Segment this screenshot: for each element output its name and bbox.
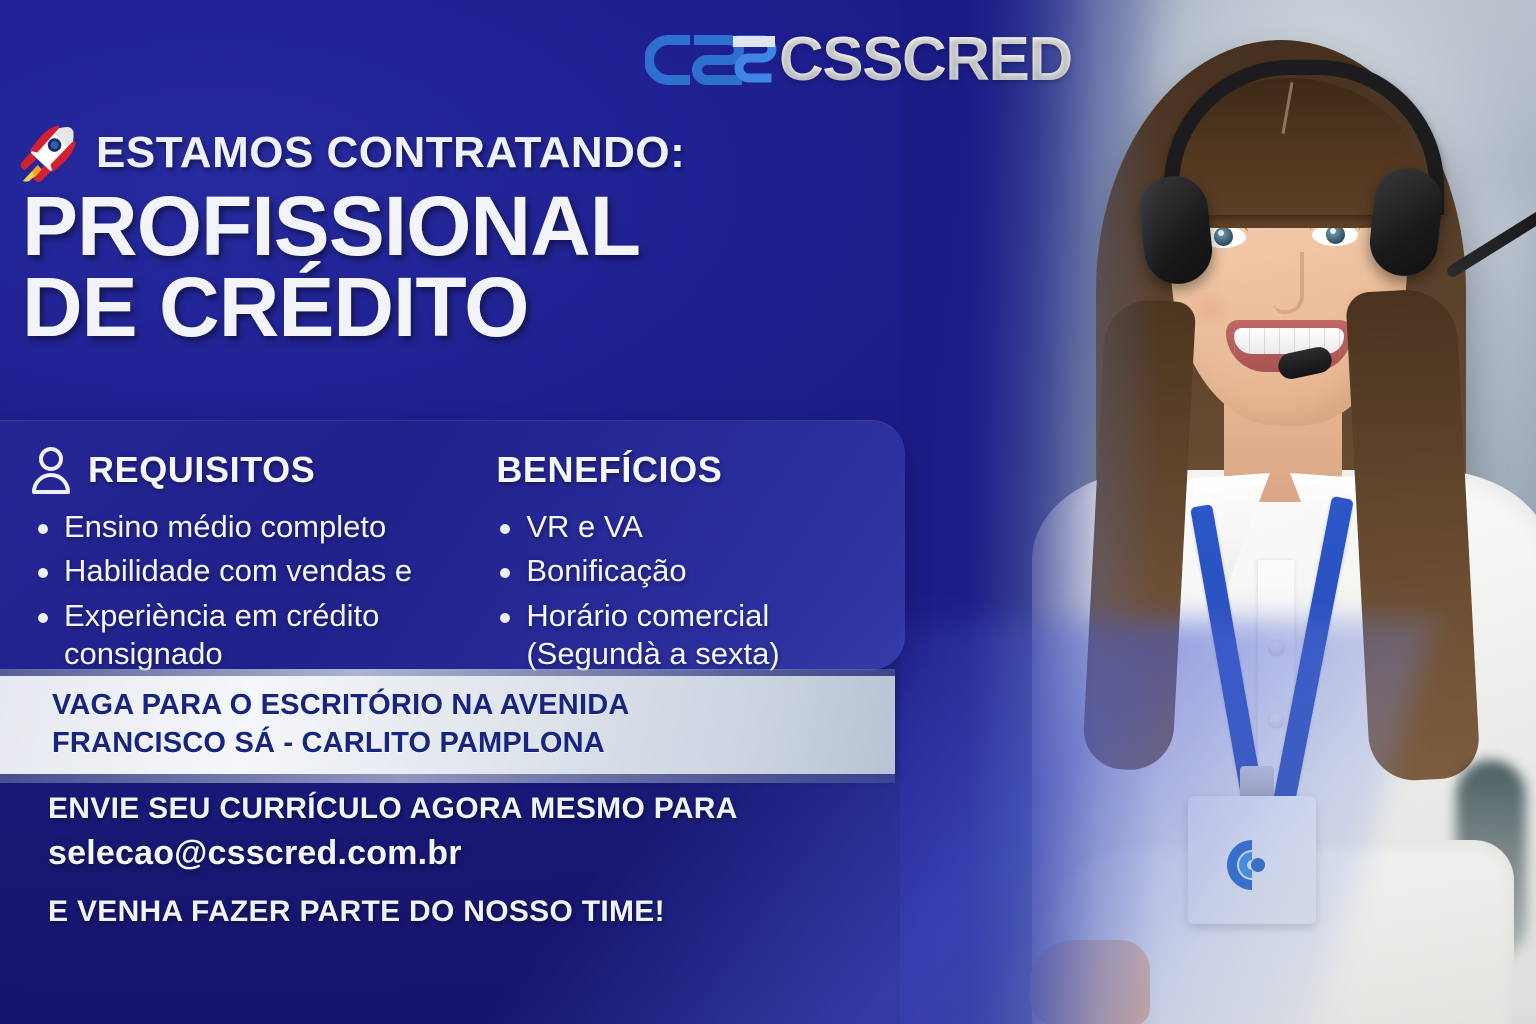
- title-line-1: PROFISSIONAL: [22, 179, 640, 273]
- page-title: PROFISSIONAL DE CRÉDITO: [22, 186, 640, 347]
- list-item: VR e VA: [492, 508, 885, 546]
- requisitos-list: Ensino médio completo Habilidade com ven…: [30, 508, 442, 674]
- rocket-icon: [17, 121, 81, 185]
- csscred-monogram-icon: [645, 26, 777, 94]
- brand-wordmark: CSSCRED: [779, 29, 1078, 91]
- title-line-2: DE CRÉDITO: [22, 267, 640, 348]
- address-banner: VAGA PARA O ESCRITÓRIO NA AVENIDA FRANCI…: [0, 676, 895, 774]
- list-item: Habilidade com vendas e: [30, 552, 442, 590]
- address-text: VAGA PARA O ESCRITÓRIO NA AVENIDA FRANCI…: [52, 686, 630, 763]
- beneficios-list: VR e VA Bonificação Horário comercial (S…: [492, 508, 885, 674]
- address-line-2: FRANCISCO SÁ - CARLITO PAMPLONA: [52, 724, 630, 762]
- requisitos-title: REQUISITOS: [88, 449, 315, 491]
- cta-line-1: ENVIE SEU CURRÍCULO AGORA MESMO PARA: [48, 792, 738, 826]
- beneficios-title: BENEFÍCIOS: [496, 449, 722, 491]
- requirements-benefits-panel: REQUISITOS Ensino médio completo Habilid…: [0, 420, 905, 670]
- nose: [1274, 252, 1304, 314]
- hiring-kicker-row: ESTAMOS CONTRATANDO:: [18, 122, 685, 184]
- list-item: Horário comercial (Segundà a sexta): [492, 597, 885, 674]
- address-line-1: VAGA PARA O ESCRITÓRIO NA AVENIDA: [52, 686, 630, 724]
- list-item: Ensino médio completo: [30, 508, 442, 546]
- hiring-kicker: ESTAMOS CONTRATANDO:: [96, 128, 685, 178]
- person-icon: [30, 446, 72, 494]
- brand-logo: CSSCRED: [645, 26, 1078, 94]
- job-ad-poster: CSSCRED ESTAMOS CONTRATANDO: PROFISSIONA…: [0, 0, 1536, 1024]
- cta-email[interactable]: selecao@csscred.com.br: [48, 834, 738, 873]
- requisitos-column: REQUISITOS Ensino médio completo Habilid…: [30, 442, 442, 680]
- beneficios-column: BENEFÍCIOS VR e VA Bonificação Horário c…: [492, 442, 885, 680]
- list-item: Experiència em crédito consignado: [30, 597, 442, 674]
- cta-block: ENVIE SEU CURRÍCULO AGORA MESMO PARA sel…: [48, 792, 738, 929]
- list-item: Bonificação: [492, 552, 885, 590]
- cta-line-3: E VENHA FAZER PARTE DO NOSSO TIME!: [48, 895, 738, 929]
